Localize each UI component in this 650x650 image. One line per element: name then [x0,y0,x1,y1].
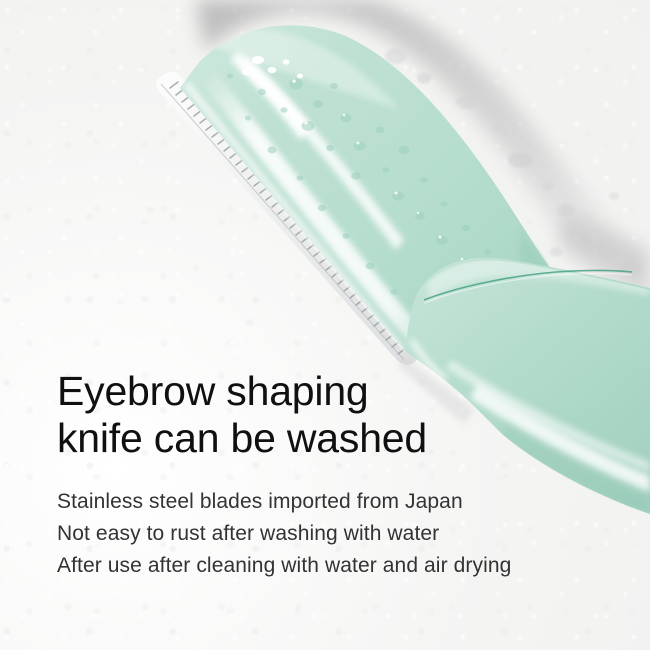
feature-line: After use after cleaning with water and … [57,550,617,582]
feature-line: Stainless steel blades imported from Jap… [57,486,617,518]
headline: Eyebrow shaping knife can be washed [57,368,617,462]
marketing-copy: Eyebrow shaping knife can be washed Stai… [57,368,617,582]
feature-line: Not easy to rust after washing with wate… [57,518,617,550]
feature-list: Stainless steel blades imported from Jap… [57,486,617,582]
product-marketing-image: Eyebrow shaping knife can be washed Stai… [0,0,650,650]
